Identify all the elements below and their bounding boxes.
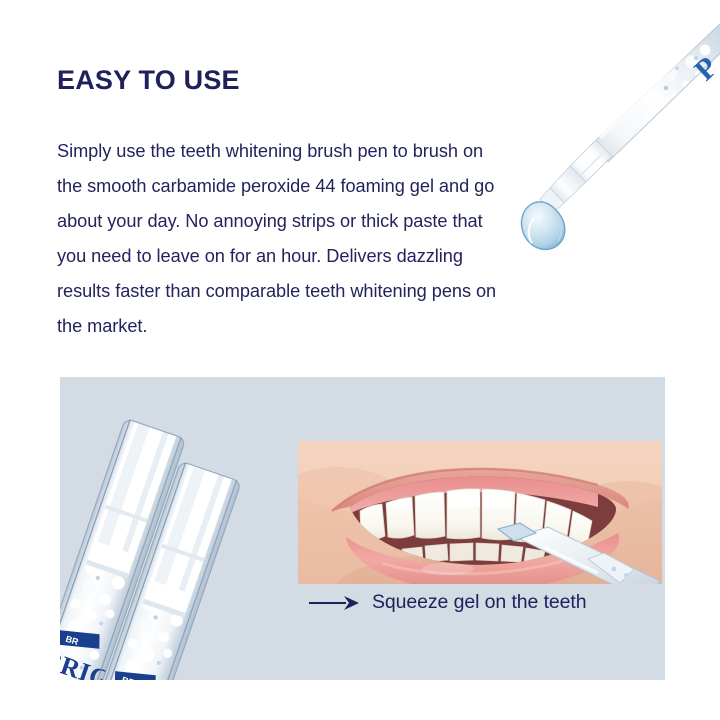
smile-photo: [298, 441, 662, 584]
smile-illustration: [298, 441, 662, 584]
caption-label: Squeeze gel on the teeth: [372, 591, 586, 614]
caption-row: Squeeze gel on the teeth: [308, 591, 586, 614]
panel-pens-image: BR BRIGHT: [60, 415, 314, 680]
gel-droplet-icon: [521, 202, 564, 250]
hero-pen-image: P: [520, 22, 720, 272]
arrow-right-icon: [308, 594, 360, 612]
pen-brand-letter: P: [688, 50, 720, 87]
feature-panel: BR BRIGHT: [60, 377, 665, 680]
body-paragraph: Simply use the teeth whitening brush pen…: [57, 134, 509, 344]
pen-illustration: P: [520, 22, 720, 272]
page-title: EASY TO USE: [57, 66, 240, 96]
two-pens-illustration: BR BRIGHT: [60, 415, 314, 680]
